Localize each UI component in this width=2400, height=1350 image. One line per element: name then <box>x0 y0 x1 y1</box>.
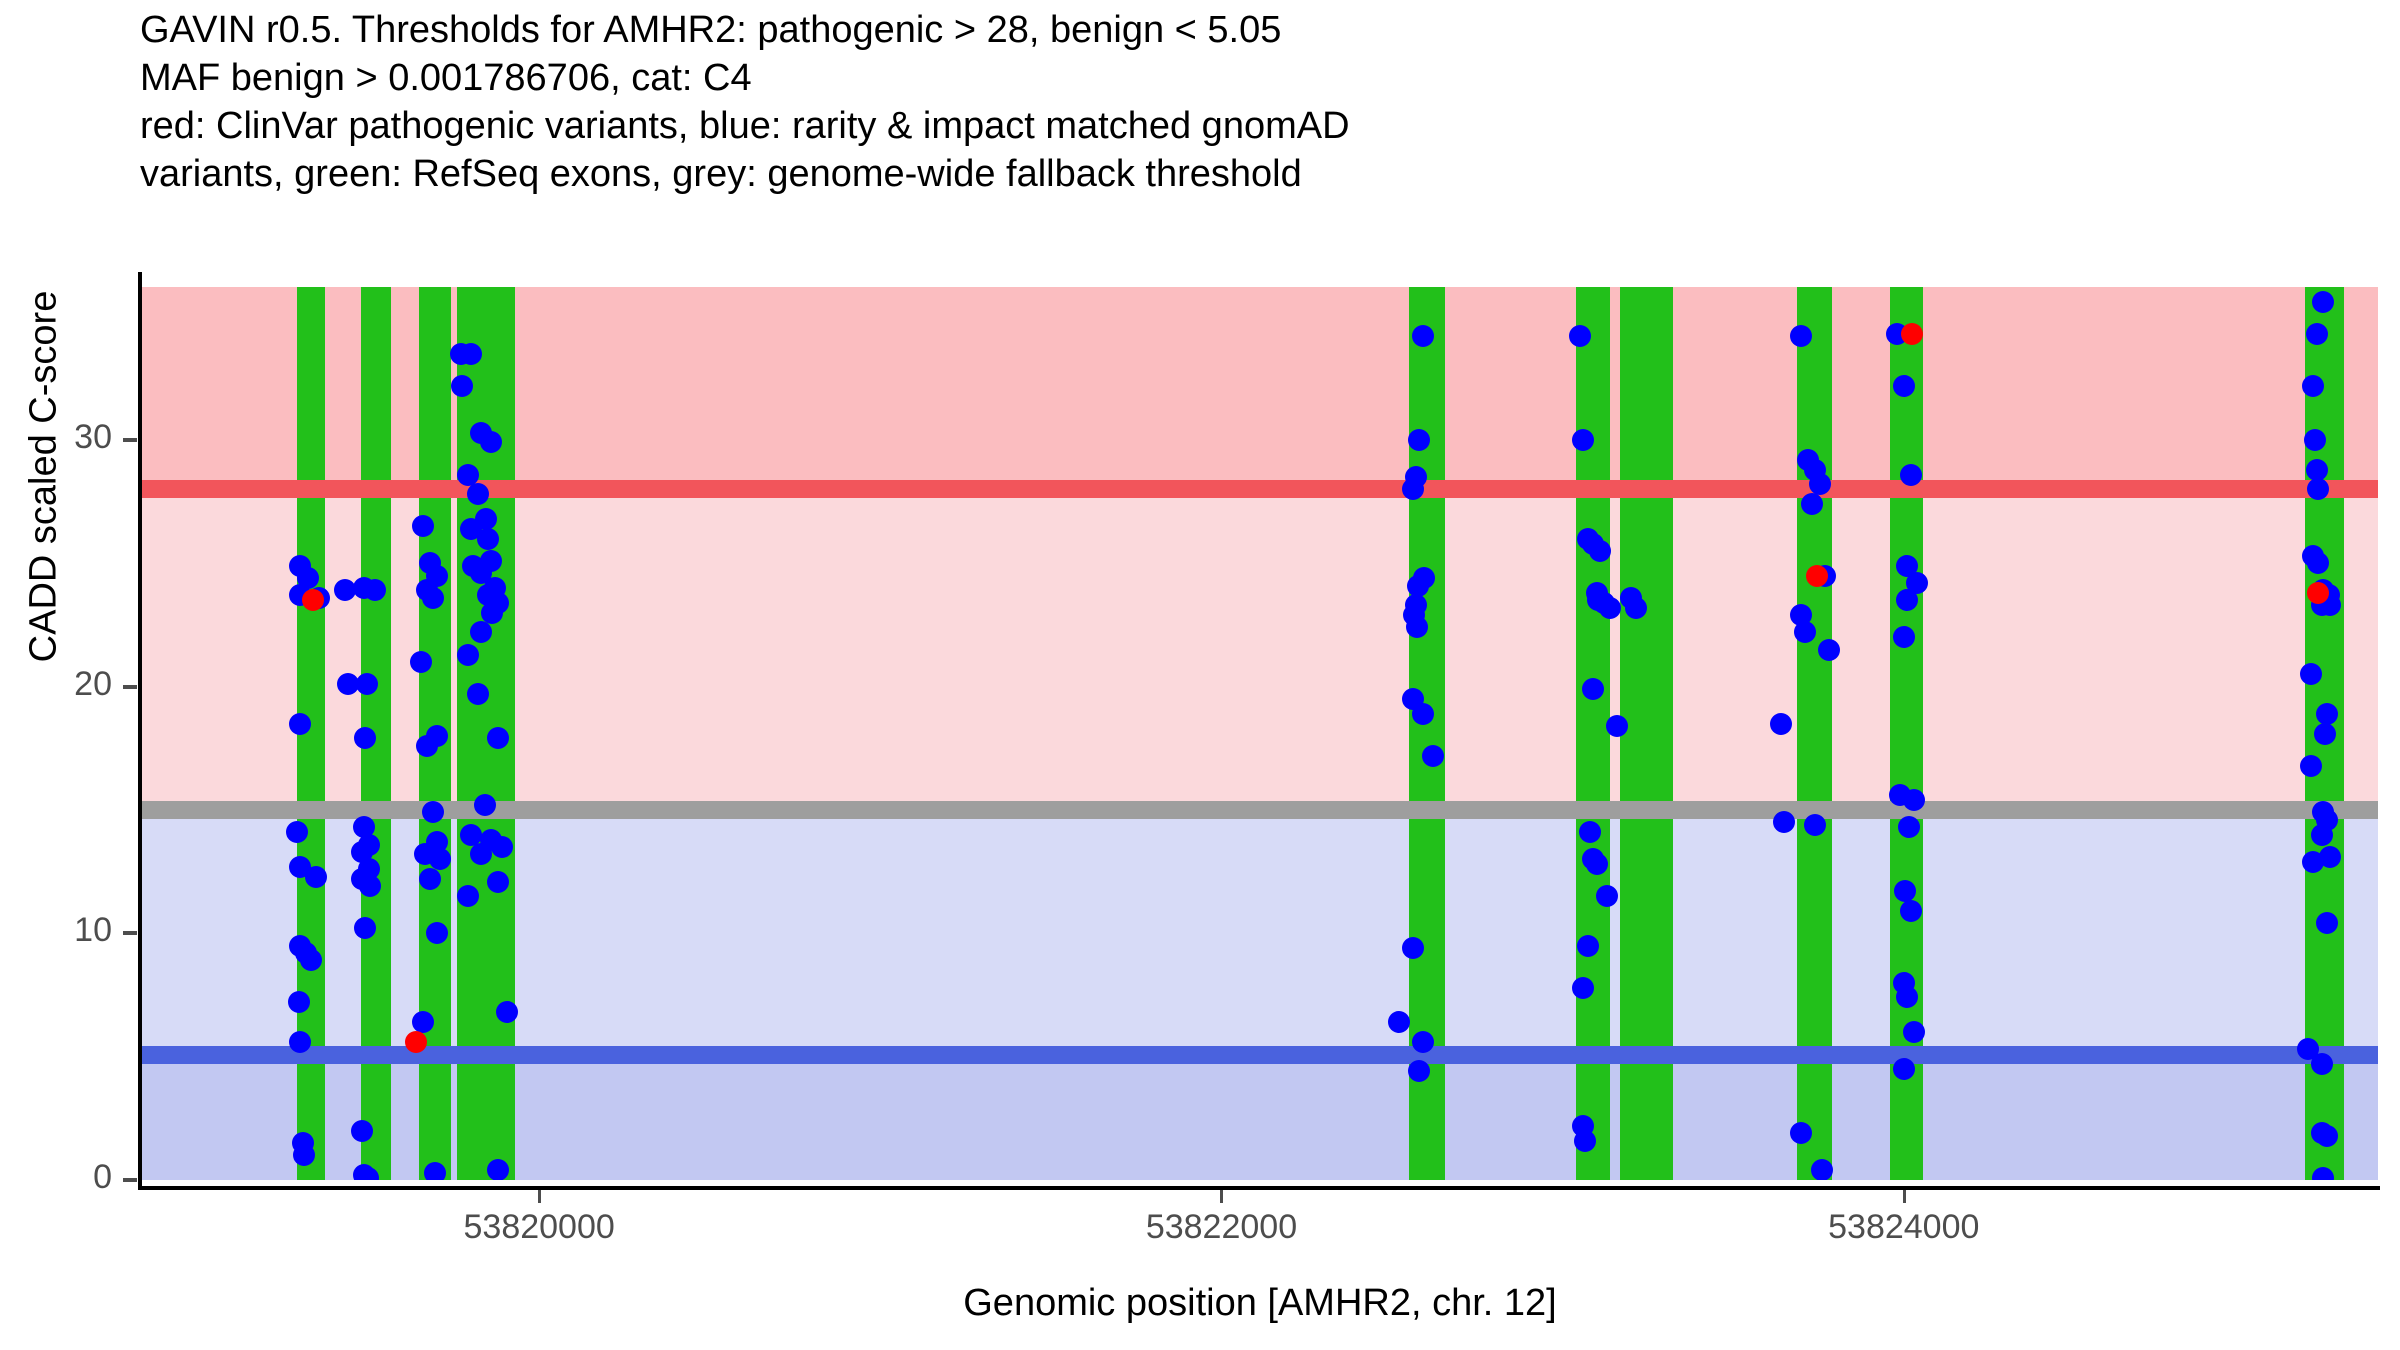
x-axis-line <box>138 1186 2380 1190</box>
threshold-line-benign-threshold <box>140 1046 2378 1064</box>
clinvar-point <box>1806 565 1828 587</box>
gnomad-point <box>424 1162 446 1180</box>
x-axis-label: Genomic position [AMHR2, chr. 12] <box>140 1282 2380 1325</box>
gnomad-point <box>2311 1053 2333 1075</box>
gnomad-point <box>1412 325 1434 347</box>
gnomad-point <box>487 871 509 893</box>
y-tick-mark <box>123 1178 137 1182</box>
gnomad-point <box>1770 713 1792 735</box>
gnomad-point <box>1801 493 1823 515</box>
gnomad-point <box>1625 597 1647 619</box>
y-tick-label: 0 <box>22 1158 112 1197</box>
x-tick-label: 53824000 <box>1774 1208 2034 1247</box>
gnomad-point <box>1589 540 1611 562</box>
plot-panel <box>140 278 2378 1180</box>
gnomad-point <box>457 464 479 486</box>
y-tick-label: 10 <box>22 911 112 950</box>
x-tick-mark <box>1903 1190 1906 1203</box>
y-axis-line <box>138 272 142 1186</box>
gnomad-point <box>451 375 473 397</box>
plot-layers <box>140 278 2378 1180</box>
gnomad-point <box>481 602 503 624</box>
gnomad-point <box>1574 1130 1596 1152</box>
gnomad-point <box>288 991 310 1013</box>
gnomad-point <box>1579 821 1601 843</box>
gnomad-point <box>477 528 499 550</box>
gnomad-point <box>334 579 356 601</box>
title-line-2: MAF benign > 0.001786706, cat: C4 <box>140 54 2340 102</box>
gnomad-point <box>1903 789 1925 811</box>
gnomad-point <box>2316 1125 2338 1147</box>
gnomad-point <box>1572 977 1594 999</box>
gnomad-point <box>2316 703 2338 725</box>
gnomad-point <box>1811 1159 1833 1180</box>
gnomad-point <box>1893 1058 1915 1080</box>
gnomad-point <box>1569 325 1591 347</box>
gnomad-point <box>2314 723 2336 745</box>
gnomad-point <box>1577 935 1599 957</box>
gnomad-point <box>1818 639 1840 661</box>
gnomad-point <box>1388 1011 1410 1033</box>
gnomad-point <box>491 836 513 858</box>
gnomad-point <box>426 922 448 944</box>
gnomad-point <box>1402 937 1424 959</box>
gnomad-point <box>1893 626 1915 648</box>
gnomad-point <box>1900 900 1922 922</box>
gnomad-point <box>496 1001 518 1023</box>
gnomad-point <box>351 1120 373 1142</box>
gnomad-point <box>1406 616 1428 638</box>
gnomad-point <box>1586 853 1608 875</box>
gnomad-point <box>474 794 496 816</box>
gnomad-point <box>467 683 489 705</box>
x-tick-label: 53822000 <box>1091 1208 1351 1247</box>
gnomad-point <box>289 713 311 735</box>
gnomad-point <box>457 885 479 907</box>
title-line-4: variants, green: RefSeq exons, grey: gen… <box>140 150 2340 198</box>
gnomad-point <box>1903 1021 1925 1043</box>
gnomad-point <box>2304 429 2326 451</box>
gnomad-point <box>1407 575 1429 597</box>
gnomad-point <box>1402 478 1424 500</box>
gnomad-point <box>1422 745 1444 767</box>
title-line-3: red: ClinVar pathogenic variants, blue: … <box>140 102 2340 150</box>
gnomad-point <box>2311 824 2333 846</box>
gnomad-point <box>1900 464 1922 486</box>
gnomad-point <box>286 821 308 843</box>
y-tick-mark <box>123 931 137 935</box>
gnomad-point <box>460 824 482 846</box>
gnomad-point <box>487 1159 509 1180</box>
title-line-1: GAVIN r0.5. Thresholds for AMHR2: pathog… <box>140 6 2340 54</box>
gnomad-point <box>2302 375 2324 397</box>
gnomad-point <box>1898 816 1920 838</box>
gnomad-point <box>2306 323 2328 345</box>
gnomad-point <box>1893 375 1915 397</box>
gnomad-point <box>419 868 441 890</box>
gnomad-point <box>1804 814 1826 836</box>
gnomad-point <box>416 735 438 757</box>
x-tick-mark <box>538 1190 541 1203</box>
gnomad-point <box>300 949 322 971</box>
chart-root: GAVIN r0.5. Thresholds for AMHR2: pathog… <box>0 0 2400 1350</box>
gnomad-point <box>2302 851 2324 873</box>
gnomad-point <box>1599 597 1621 619</box>
gnomad-point <box>1412 1031 1434 1053</box>
y-tick-mark <box>123 685 137 689</box>
gnomad-point <box>2306 459 2328 481</box>
gnomad-point <box>457 644 479 666</box>
gnomad-point <box>305 866 327 888</box>
gnomad-point <box>1412 703 1434 725</box>
gnomad-point <box>460 343 482 365</box>
gnomad-point <box>1572 429 1594 451</box>
x-tick-mark <box>1220 1190 1223 1203</box>
gnomad-point <box>2300 755 2322 777</box>
y-tick-mark <box>123 438 137 442</box>
gnomad-point <box>467 483 489 505</box>
chart-title-block: GAVIN r0.5. Thresholds for AMHR2: pathog… <box>140 6 2340 198</box>
gnomad-point <box>356 673 378 695</box>
x-tick-label: 53820000 <box>409 1208 669 1247</box>
y-axis-label: CADD scaled C-score <box>23 157 66 797</box>
